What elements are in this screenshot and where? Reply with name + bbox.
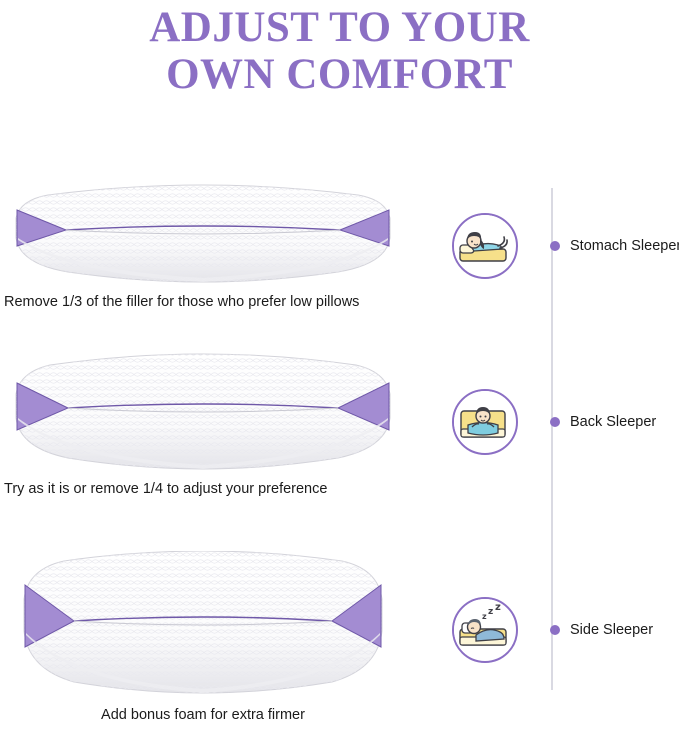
pillow-image-high [8, 551, 398, 701]
svg-text:z: z [482, 612, 487, 621]
pillow-caption-high: Add bonus foam for extra firmer [8, 707, 398, 723]
pillow-block-low: Remove 1/3 of the filler for those who p… [0, 178, 420, 310]
back-sleeper-icon [452, 389, 518, 455]
pillow-caption-low: Remove 1/3 of the filler for those who p… [4, 294, 420, 310]
page-title: ADJUST TO YOUR OWN COMFORT [0, 0, 679, 98]
back-sleeper-dot [550, 417, 560, 427]
svg-text:z: z [488, 607, 493, 617]
stomach-sleeper-label: Stomach Sleeper [570, 238, 679, 254]
side-sleeper-dot [550, 625, 560, 635]
pillow-block-high: Add bonus foam for extra firmer [0, 551, 420, 723]
page-title-line-2: OWN COMFORT [0, 51, 679, 98]
side-sleeper-label: Side Sleeper [570, 622, 653, 638]
sleeper-row-stomach: Stomach Sleeper [452, 214, 679, 278]
sleeper-row-back: Back Sleeper [452, 390, 679, 454]
svg-text:z: z [495, 602, 501, 613]
stomach-sleeper-icon [452, 213, 518, 279]
back-sleeper-label: Back Sleeper [570, 414, 656, 430]
medium-loft-pillow-illustration [8, 350, 398, 475]
high-loft-pillow-illustration [8, 551, 398, 701]
pillow-caption-medium: Try as it is or remove 1/4 to adjust you… [4, 481, 420, 497]
pillow-block-medium: Try as it is or remove 1/4 to adjust you… [0, 350, 420, 497]
pillow-image-low [8, 178, 398, 288]
pillow-image-medium [8, 350, 398, 475]
page-title-line-1: ADJUST TO YOUR [0, 4, 679, 51]
low-loft-pillow-illustration [8, 178, 398, 288]
side-sleeper-icon: z z z [452, 597, 518, 663]
sleeper-row-side: z z z Side Sleeper [452, 598, 679, 662]
stomach-sleeper-dot [550, 241, 560, 251]
